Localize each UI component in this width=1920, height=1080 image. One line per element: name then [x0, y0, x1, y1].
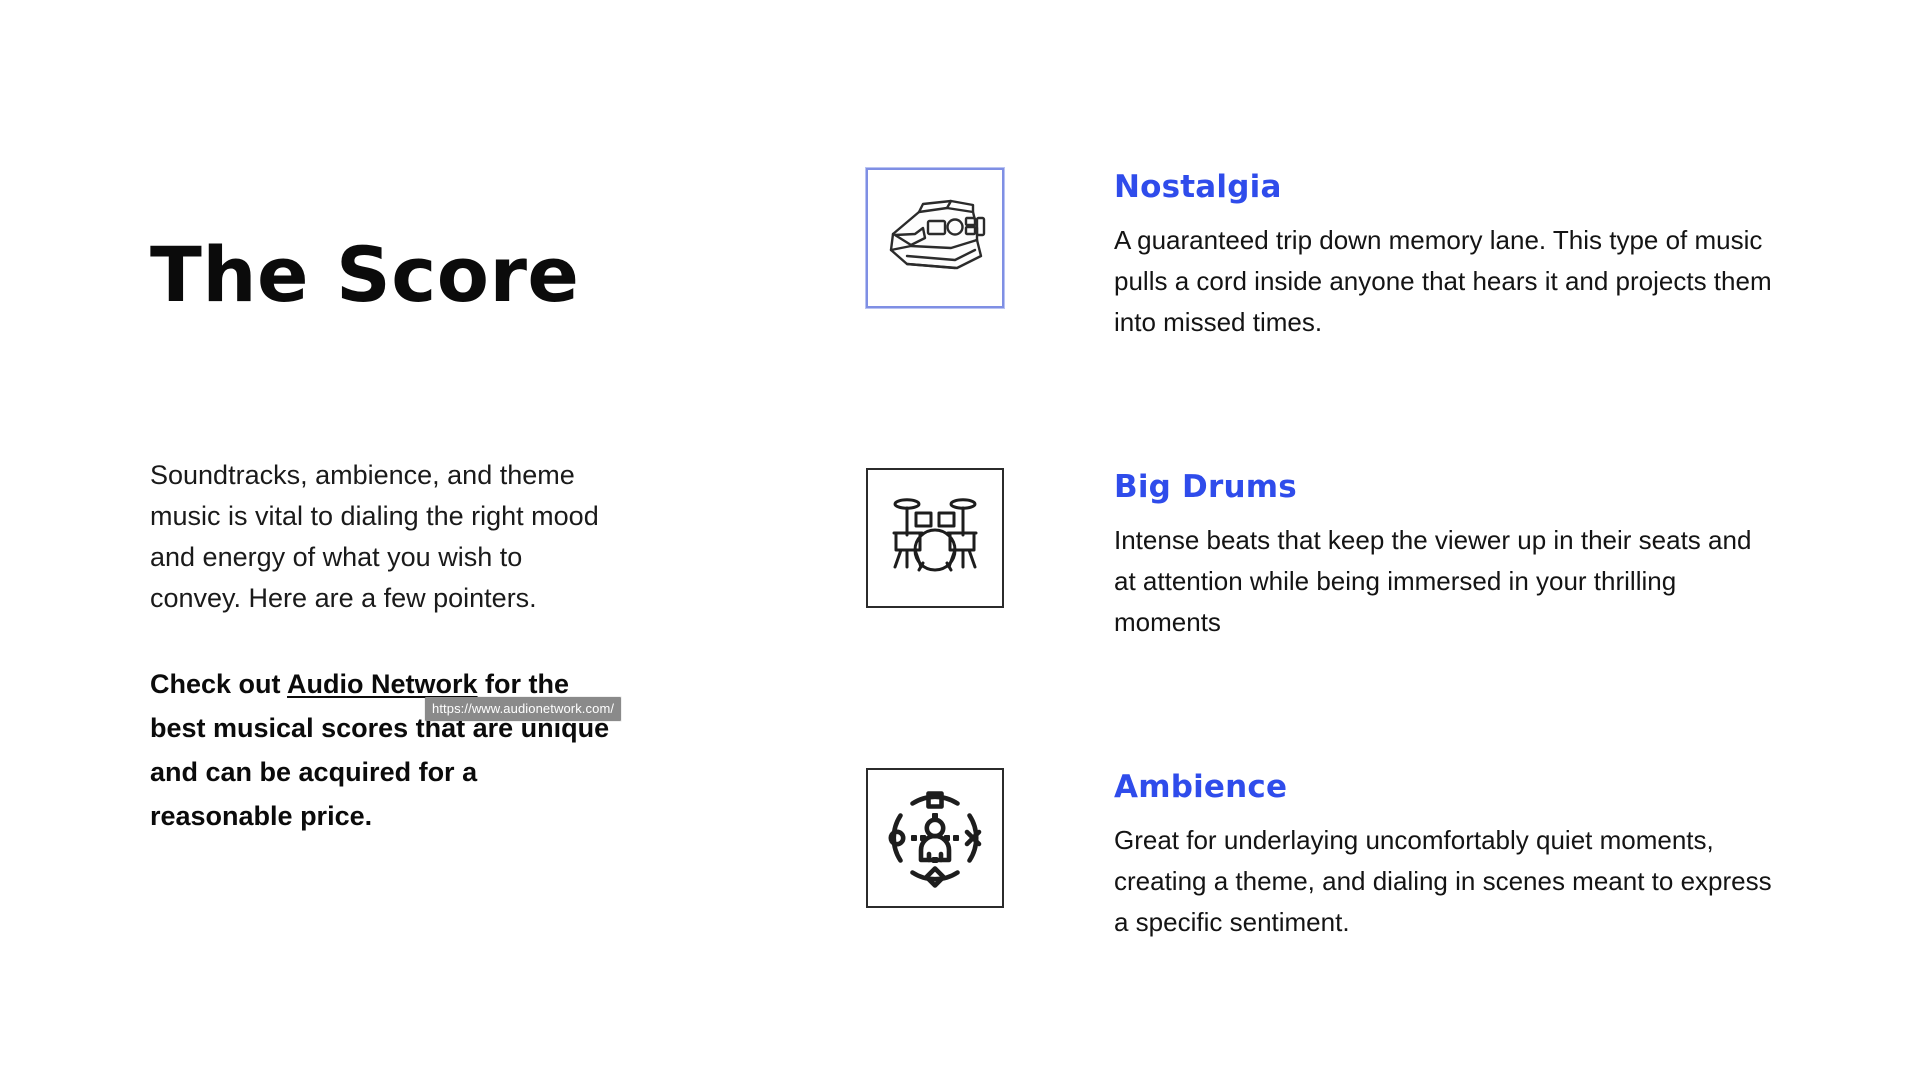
list-item: Big Drums Intense beats that keep the vi… — [866, 468, 1786, 768]
list-item: Nostalgia A guaranteed trip down memory … — [866, 168, 1786, 468]
cta-paragraph: Check out Audio Network for the best mus… — [150, 662, 620, 838]
item-heading: Big Drums — [1114, 470, 1774, 506]
item-body: Intense beats that keep the viewer up in… — [1114, 520, 1774, 643]
item-text-block: Big Drums Intense beats that keep the vi… — [1114, 468, 1774, 643]
ambience-surround-icon-box[interactable] — [866, 768, 1004, 908]
slide-canvas: The Score Soundtracks, ambience, and the… — [0, 0, 1920, 1080]
list-item: Ambience Great for underlaying uncomfort… — [866, 768, 1786, 1068]
feature-list: Nostalgia A guaranteed trip down memory … — [866, 168, 1786, 1068]
drum-kit-icon-box[interactable] — [866, 468, 1004, 608]
instant-camera-icon — [881, 194, 989, 282]
link-url-tooltip: https://www.audionetwork.com/ — [425, 697, 621, 721]
page-title: The Score — [150, 235, 620, 315]
item-heading: Ambience — [1114, 770, 1774, 806]
item-heading: Nostalgia — [1114, 170, 1774, 206]
item-body: A guaranteed trip down memory lane. This… — [1114, 220, 1774, 343]
title-block: The Score — [150, 235, 620, 315]
audio-network-link[interactable]: Audio Network — [287, 669, 478, 699]
item-text-block: Nostalgia A guaranteed trip down memory … — [1114, 168, 1774, 343]
item-body: Great for underlaying uncomfortably quie… — [1114, 820, 1774, 943]
instant-camera-icon-box[interactable] — [866, 168, 1004, 308]
item-text-block: Ambience Great for underlaying uncomfort… — [1114, 768, 1774, 943]
drum-kit-icon — [887, 491, 983, 585]
ambience-surround-icon — [885, 788, 985, 888]
intro-paragraph: Soundtracks, ambience, and theme music i… — [150, 455, 620, 619]
cta-prefix: Check out — [150, 669, 287, 699]
